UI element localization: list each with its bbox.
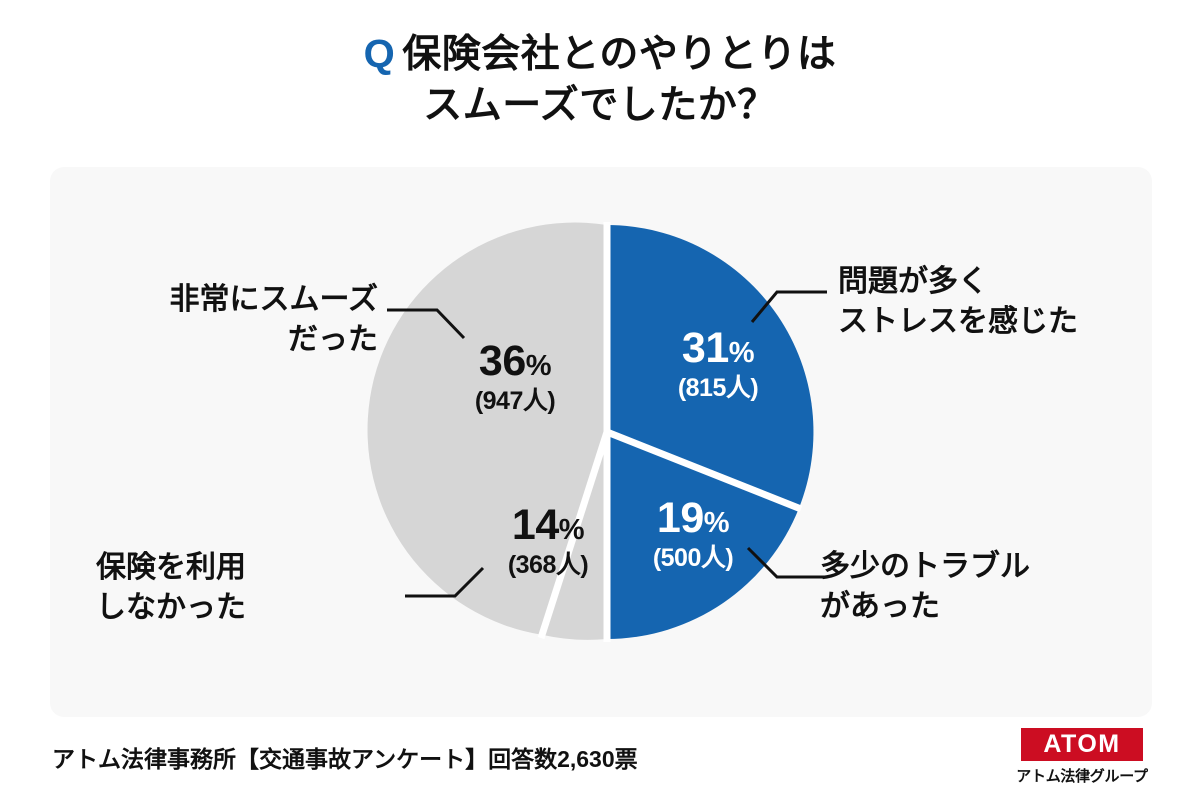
title-text-line-1: 保険会社とのやりとりは	[402, 33, 836, 76]
question-mark-q: Q	[364, 32, 396, 76]
slice-label-stress: 31% (815人)	[643, 327, 793, 401]
atom-logo-subtitle: アトム法律グループ	[1012, 765, 1152, 786]
slice-label-trouble: 19% (500人)	[618, 497, 768, 571]
callout-trouble-line-1: 多少のトラブル	[820, 547, 1030, 587]
callout-trouble-line-2: があった	[820, 587, 1030, 627]
slice-percent-stress: 31%	[643, 327, 793, 370]
slice-count-unused: (368人)	[478, 553, 618, 578]
title-line-1: Q保険会社とのやりとりは	[0, 28, 1200, 81]
slice-label-unused: 14% (368人)	[478, 504, 618, 578]
chart-card	[50, 167, 1152, 717]
slice-count-smooth: (947人)	[440, 389, 590, 414]
atom-logo-mark: ATOM	[1021, 728, 1143, 761]
callout-unused-line-2: しなかった	[96, 588, 396, 628]
atom-logo[interactable]: ATOM アトム法律グループ	[1012, 728, 1152, 786]
callout-smooth-line-1: 非常にスムーズ	[78, 280, 378, 320]
callout-unused: 保険を利用 しなかった	[96, 548, 396, 628]
slice-percent-unused: 14%	[478, 504, 618, 547]
footer-source-note: アトム法律事務所【交通事故アンケート】回答数2,630票	[52, 740, 638, 774]
slice-label-smooth: 36% (947人)	[440, 340, 590, 414]
slice-percent-trouble: 19%	[618, 497, 768, 540]
slice-count-stress: (815人)	[643, 376, 793, 401]
callout-stress-line-2: ストレスを感じた	[838, 302, 1078, 342]
callout-trouble: 多少のトラブル があった	[820, 547, 1030, 627]
slice-count-trouble: (500人)	[618, 546, 768, 571]
callout-unused-line-1: 保険を利用	[96, 548, 396, 588]
callout-smooth-line-2: だった	[78, 320, 378, 360]
callout-smooth: 非常にスムーズ だった	[78, 280, 378, 360]
slice-percent-smooth: 36%	[440, 340, 590, 383]
callout-stress-line-1: 問題が多く	[838, 262, 1078, 302]
page-title: Q保険会社とのやりとりは スムーズでしたか？	[0, 28, 1200, 131]
title-line-2: スムーズでしたか？	[0, 81, 1200, 132]
callout-stress: 問題が多く ストレスを感じた	[838, 262, 1078, 342]
